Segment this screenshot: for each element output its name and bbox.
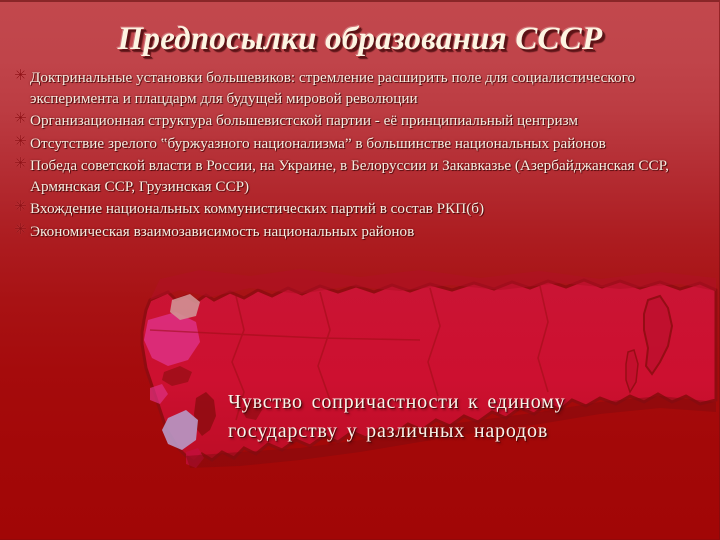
conclusion-line-1: Чувство сопричастности к единому <box>228 388 698 417</box>
slide-canvas: Предпосылки образования СССР ✳ Доктринал… <box>0 0 720 540</box>
list-item-text: Организационная структура большевистской… <box>30 112 578 129</box>
list-item: ✳ Отсутствие зрелого ‟буржуазного национ… <box>14 134 714 155</box>
list-item-text: Вхождение национальных коммунистических … <box>30 200 484 217</box>
bullet-star-icon: ✳ <box>14 200 27 215</box>
list-item: ✳ Доктринальные установки большевиков: с… <box>14 68 714 109</box>
list-item-text: Отсутствие зрелого ‟буржуазного национал… <box>30 135 606 152</box>
list-item-text: Доктринальные установки большевиков: стр… <box>30 69 635 107</box>
list-item: ✳ Вхождение национальных коммунистически… <box>14 199 714 220</box>
conclusion-line-2: государству у различных народов <box>228 417 698 446</box>
bullet-star-icon: ✳ <box>14 112 27 127</box>
bullet-star-icon: ✳ <box>14 135 27 150</box>
list-item: ✳ Организационная структура большевистск… <box>14 111 714 132</box>
conclusion-statement: Чувство сопричастности к единому государ… <box>228 388 698 446</box>
bullet-star-icon: ✳ <box>14 69 27 84</box>
bullet-list: ✳ Доктринальные установки большевиков: с… <box>14 68 714 244</box>
list-item-text: Победа советской власти в России, на Укр… <box>30 157 669 195</box>
slide-title: Предпосылки образования СССР <box>0 20 720 58</box>
list-item-text: Экономическая взаимозависимость национал… <box>30 223 414 240</box>
list-item: ✳ Победа советской власти в России, на У… <box>14 156 714 197</box>
bullet-star-icon: ✳ <box>14 157 27 172</box>
list-item: ✳ Экономическая взаимозависимость национ… <box>14 222 714 243</box>
bullet-star-icon: ✳ <box>14 223 27 238</box>
